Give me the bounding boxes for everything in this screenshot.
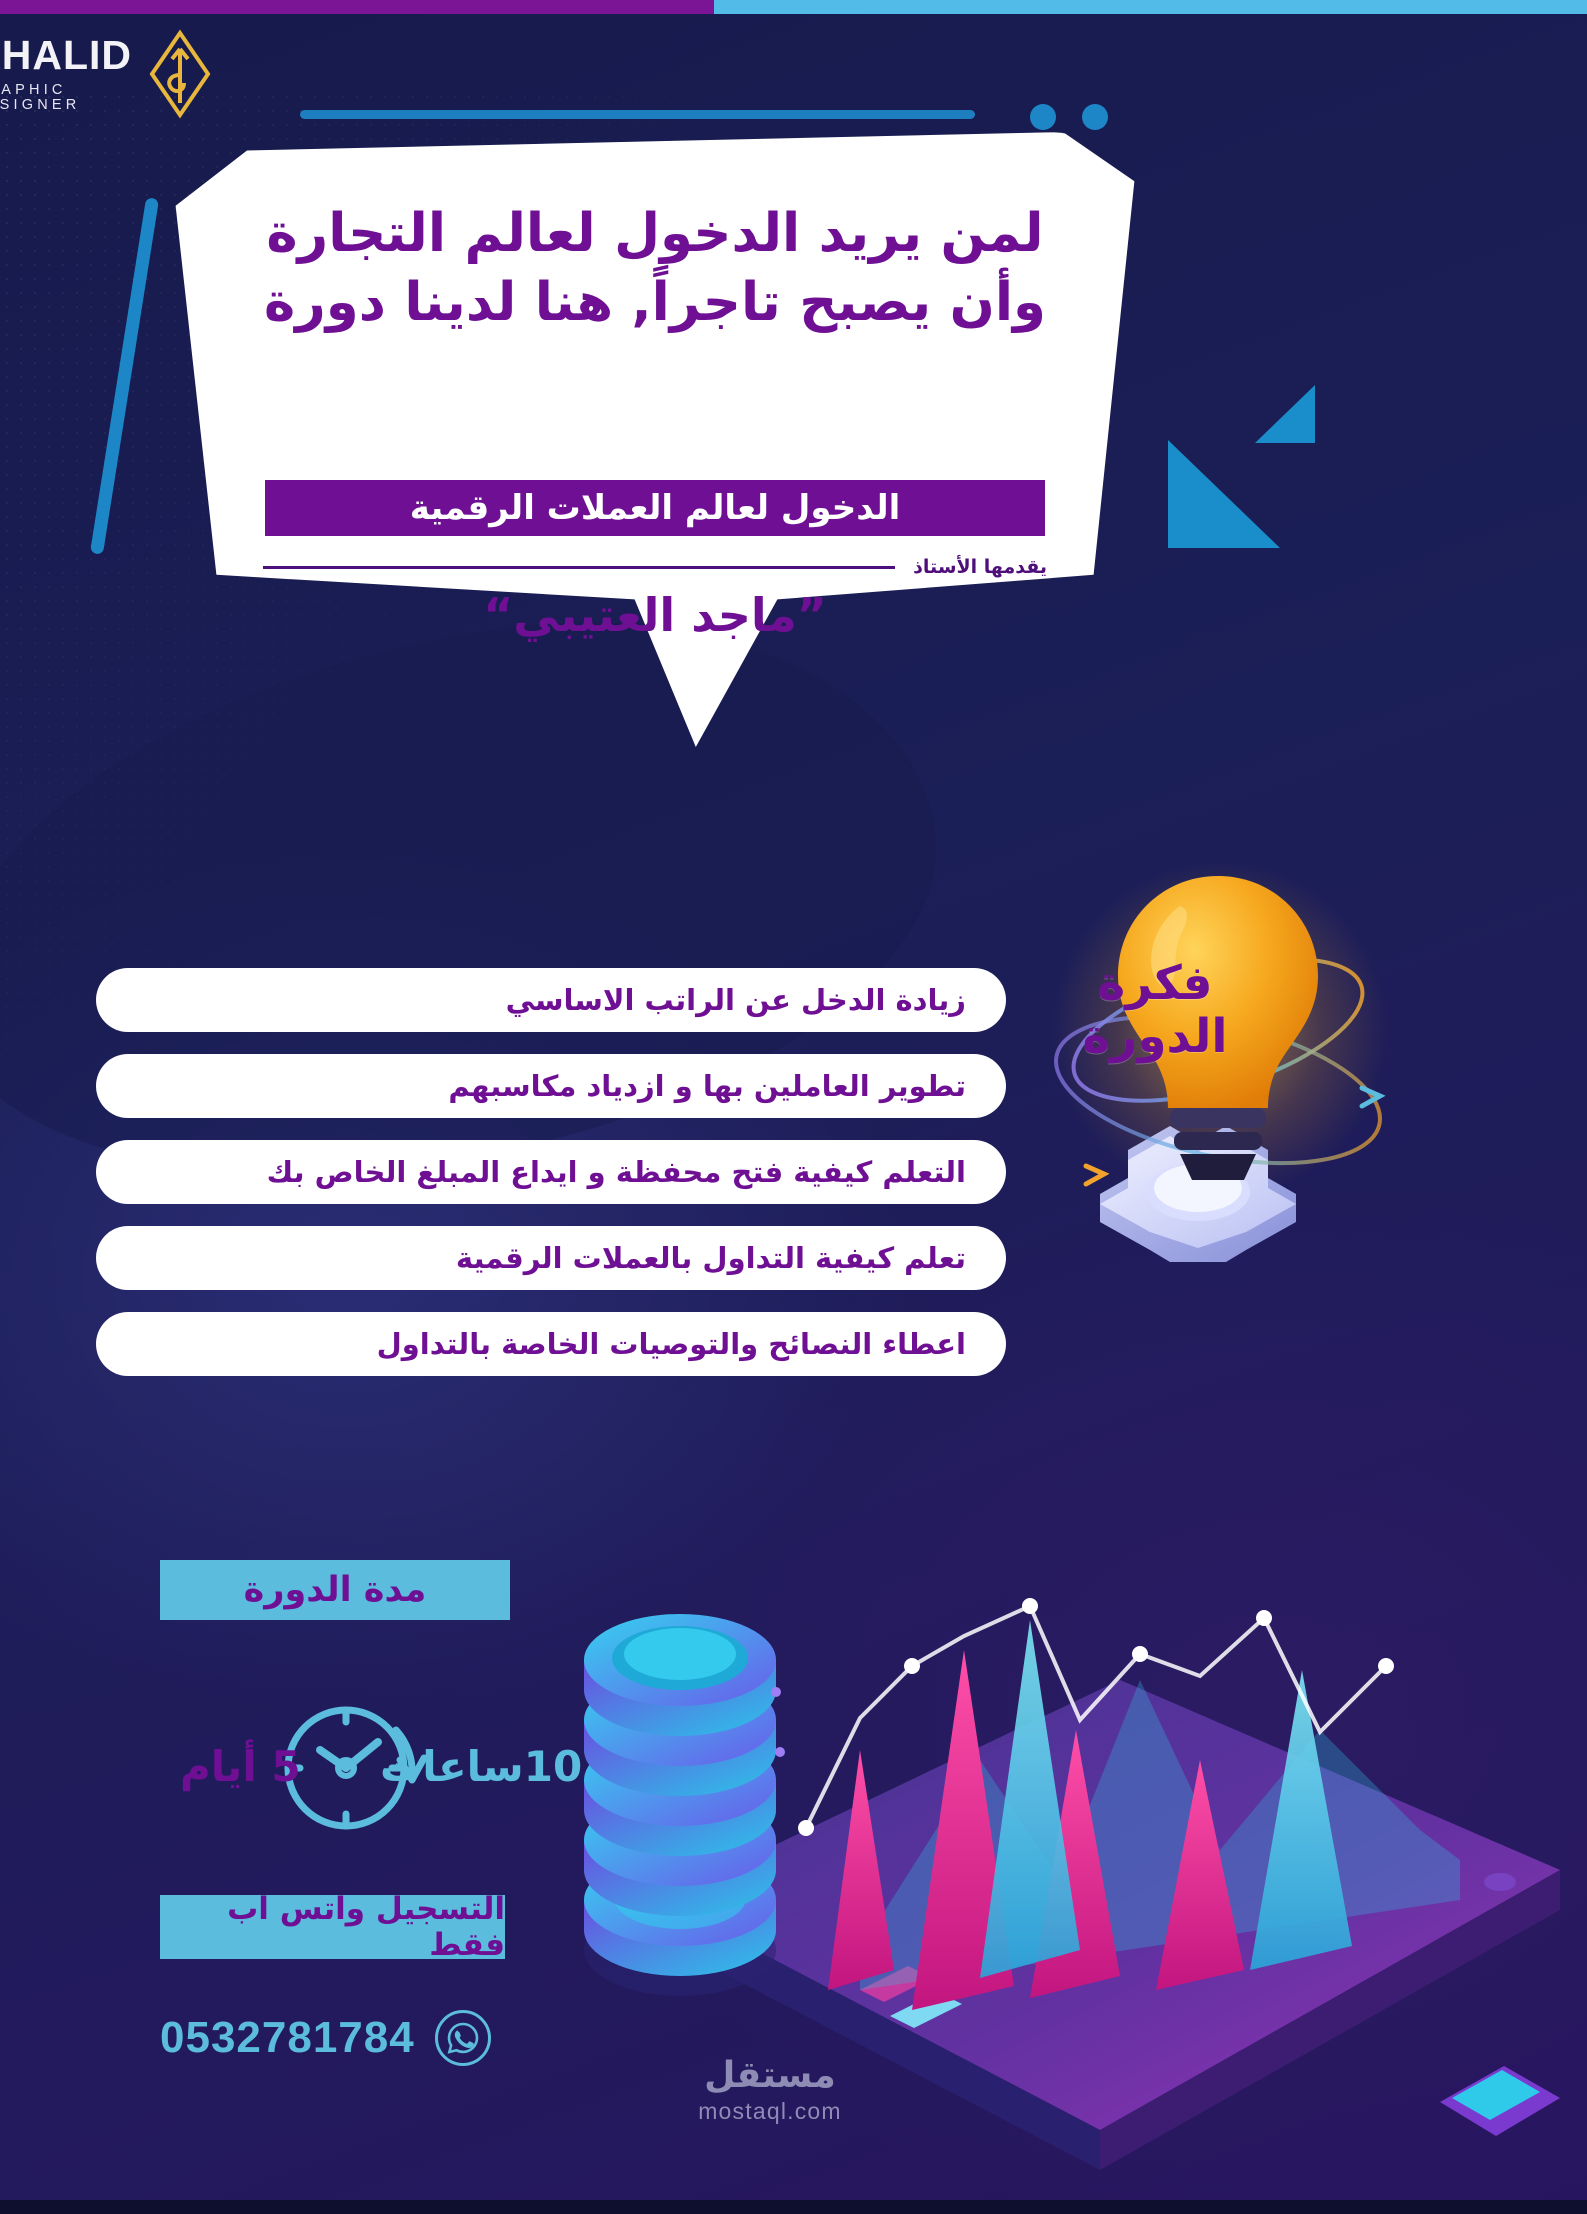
headline-line-1: لمن يريد الدخول لعالم التجارة [185,200,1125,269]
top-bar-purple-segment [0,0,714,14]
phone-number: 0532781784 [160,2013,415,2063]
logo-accent-line [300,110,975,119]
instructor-name: ”ماجد العتيبي“ [185,588,1125,642]
idea-label-line-2: الدورة [990,1011,1320,1064]
watermark-arabic: مستقل [620,2055,920,2096]
decorative-triangle-large [1168,440,1280,548]
feature-label: زيادة الدخل عن الراتب الاساسي [506,983,966,1017]
top-bar-blue-segment [714,0,1587,14]
diamond-pen-logo-icon [148,29,212,119]
feature-label: تطوير العاملين بها و ازدياد مكاسبهم [448,1069,966,1103]
headline-line-2: وأن يصبح تاجراً, هنا لدينا دورة [185,269,1125,338]
duration-badge: مدة الدورة [160,1560,510,1620]
course-idea-illustration: فكرة الدورة [990,840,1490,1400]
feature-label: اعطاء النصائح والتوصيات الخاصة بالتداول [377,1327,966,1361]
list-item: زيادة الدخل عن الراتب الاساسي [96,968,1006,1032]
watermark-latin: mostaql.com [620,2098,920,2125]
feature-label: التعلم كيفية فتح محفظة و ايداع المبلغ ال… [267,1155,966,1189]
list-item: التعلم كيفية فتح محفظة و ايداع المبلغ ال… [96,1140,1006,1204]
feature-list: زيادة الدخل عن الراتب الاساسي تطوير العا… [96,968,1006,1376]
course-title-band: الدخول لعالم العملات الرقمية [265,480,1045,536]
logo-wordmark: KHALID GRAPHIC DESIGNER [0,35,132,112]
duration-details: 10ساعات 5 أيام [100,1680,600,1840]
hero-content: لمن يريد الدخول لعالم التجارة وأن يصبح ت… [145,132,1165,747]
duration-days: 5 أيام [180,1742,301,1791]
logo-subtitle: GRAPHIC DESIGNER [0,83,132,112]
duration-hours: 10ساعات [380,1742,582,1791]
list-item: تعلم كيفية التداول بالعملات الرقمية [96,1226,1006,1290]
feature-label: تعلم كيفية التداول بالعملات الرقمية [456,1241,966,1275]
whatsapp-icon[interactable] [435,2010,491,2066]
hero-headline: لمن يريد الدخول لعالم التجارة وأن يصبح ت… [185,200,1125,338]
watermark: مستقل mostaql.com [620,2055,920,2125]
list-item: تطوير العاملين بها و ازدياد مكاسبهم [96,1054,1006,1118]
decorative-triangle-small [1255,385,1315,443]
list-item: اعطاء النصائح والتوصيات الخاصة بالتداول [96,1312,1006,1376]
lightbulb-gear-icon [990,840,1490,1400]
register-badge[interactable]: التسجيل واتس اب فقط [160,1895,505,1959]
brand-logo: KHALID GRAPHIC DESIGNER [22,26,212,121]
course-title: الدخول لعالم العملات الرقمية [410,488,901,528]
contact-phone-row[interactable]: 0532781784 [160,2005,560,2071]
idea-label-line-1: فكرة [990,958,1320,1011]
idea-label: فكرة الدورة [990,958,1320,1063]
accent-dot-1 [1030,104,1056,130]
presented-by-rule [263,566,895,569]
presented-by-label: يقدمها الأستاذ [913,556,1047,578]
register-badge-label: التسجيل واتس اب فقط [160,1891,505,1963]
duration-badge-label: مدة الدورة [244,1570,427,1610]
presented-by-row: يقدمها الأستاذ [263,556,1047,578]
top-accent-bar [0,0,1587,14]
logo-name: KHALID [0,35,132,76]
accent-dot-2 [1082,104,1108,130]
